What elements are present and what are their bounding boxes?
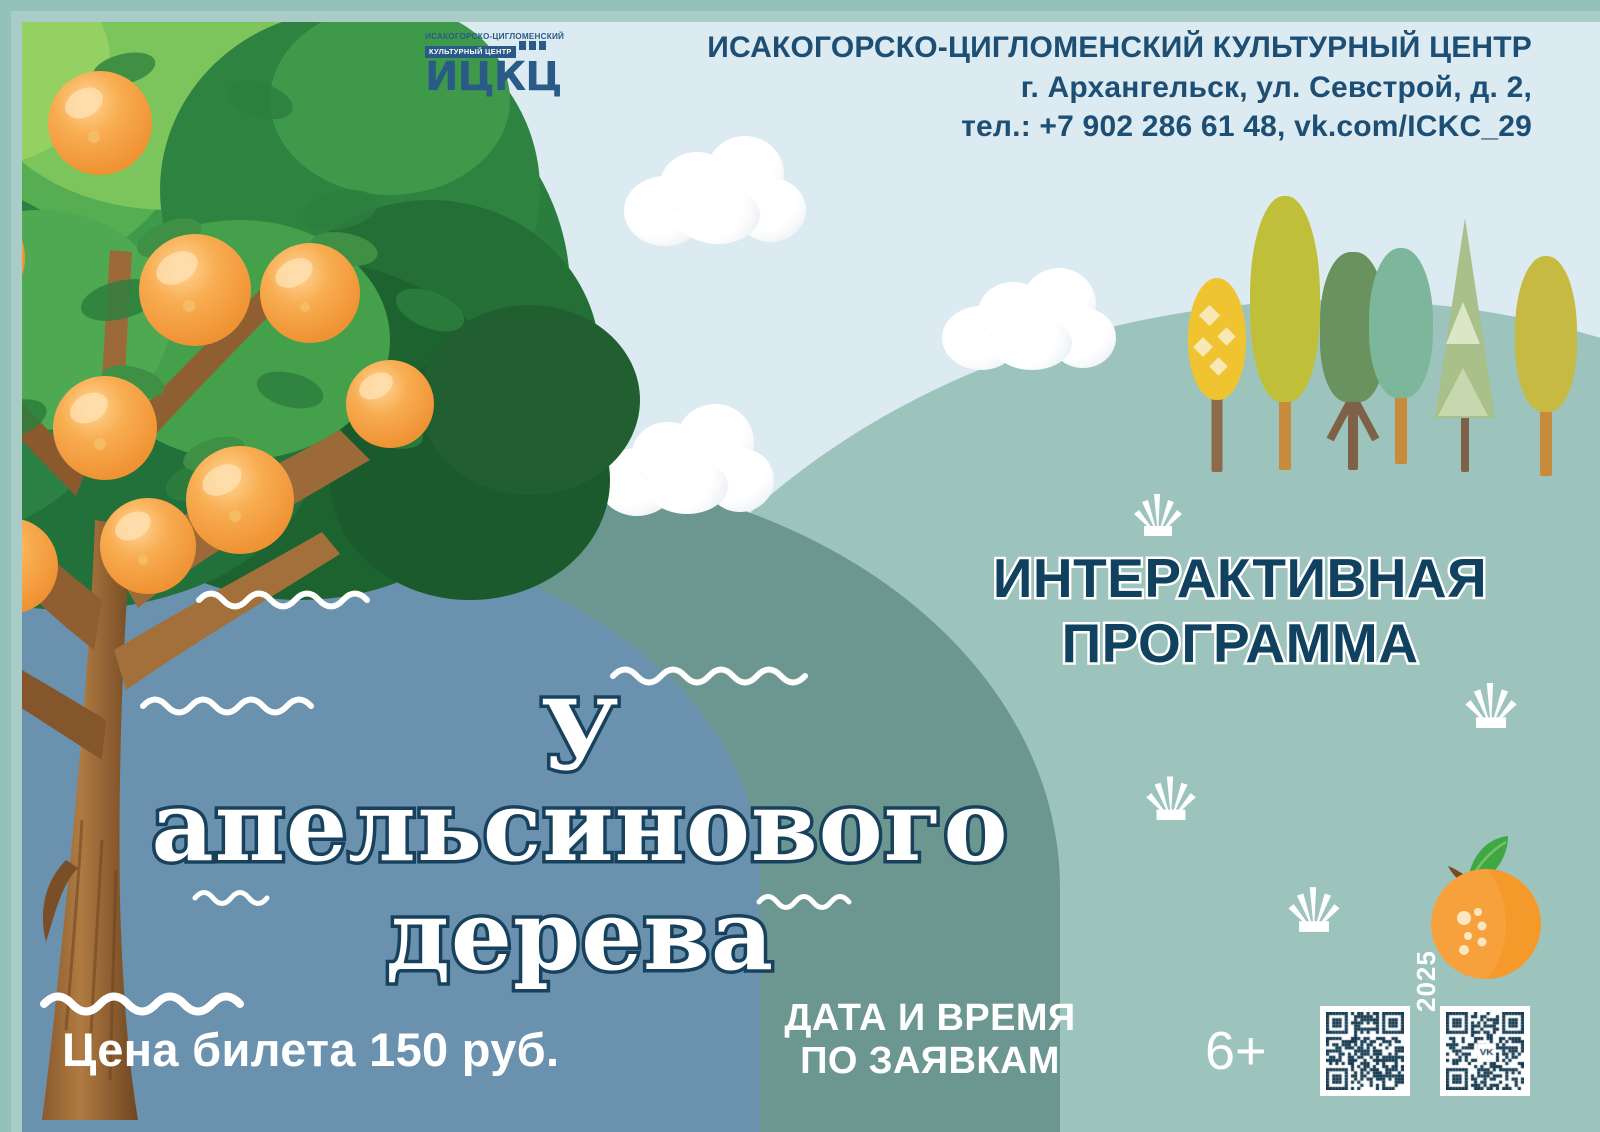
year-label: 2025: [1411, 950, 1442, 1012]
tree-icon: [1512, 256, 1580, 471]
qr-code-vk[interactable]: [1440, 1006, 1530, 1096]
frame-inner-top: [11, 11, 1600, 22]
program-line-2: ПРОГРАММА: [930, 611, 1550, 676]
wave-line-icon: [196, 584, 396, 615]
ticket-price: Цена билета 150 руб.: [62, 1022, 559, 1077]
venue-contact: тел.: +7 902 286 61 48, vk.com/ICKC_29: [707, 109, 1532, 146]
tree-icon: [1186, 278, 1248, 468]
frame-top: [0, 0, 1600, 11]
wave-line-icon: [40, 986, 280, 1021]
logo-square-icon: [539, 41, 546, 50]
logo-square-icon: [529, 41, 536, 50]
tree-icon: [1432, 218, 1498, 468]
ickc-logo: ИСАКОГОРСКО-ЦИГЛОМЕНСКИЙ КУЛЬТУРНЫЙ ЦЕНТ…: [425, 33, 565, 95]
datetime-line-1: ДАТА И ВРЕМЯ: [740, 997, 1120, 1040]
title-line-1: У апельсинового: [120, 690, 1040, 872]
program-heading: ИНТЕРАКТИВНАЯ ПРОГРАММА: [930, 546, 1550, 676]
grass-tuft-icon: [1128, 480, 1188, 541]
date-time-note: ДАТА И ВРЕМЯ ПО ЗАЯВКАМ: [740, 997, 1120, 1082]
datetime-line-2: ПО ЗАЯВКАМ: [740, 1040, 1120, 1083]
venue-info: ИСАКОГОРСКО-ЦИГЛОМЕНСКИЙ КУЛЬТУРНЫЙ ЦЕНТ…: [707, 30, 1532, 146]
grass-tuft-icon: [1458, 668, 1524, 733]
tree-icon: [1248, 196, 1322, 466]
frame-left: [0, 0, 11, 1132]
age-rating-badge: 6+: [1205, 1020, 1267, 1082]
logo-acronym: ИЦКЦ: [425, 60, 565, 94]
tree-icon: [1366, 248, 1436, 460]
wave-line-icon: [610, 660, 830, 691]
logo-square-icon: [519, 41, 526, 50]
frame-inner-left: [11, 11, 22, 1132]
grass-tuft-icon: [1140, 762, 1202, 825]
grass-tuft-icon: [1282, 872, 1346, 937]
venue-address: г. Архангельск, ул. Севстрой, д. 2,: [707, 70, 1532, 107]
page-title: У апельсинового дерева: [120, 690, 1040, 982]
logo-top-line: ИСАКОГОРСКО-ЦИГЛОМЕНСКИЙ: [425, 33, 565, 41]
title-line-2: дерева: [120, 890, 1040, 981]
cloud-icon: [940, 262, 1120, 367]
qr-code-site[interactable]: [1320, 1006, 1410, 1096]
program-line-1: ИНТЕРАКТИВНАЯ: [930, 546, 1550, 611]
venue-name: ИСАКОГОРСКО-ЦИГЛОМЕНСКИЙ КУЛЬТУРНЫЙ ЦЕНТ…: [707, 30, 1532, 67]
poster-canvas: ИСАКОГОРСКО-ЦИГЛОМЕНСКИЙ КУЛЬТУРНЫЙ ЦЕНТ…: [0, 0, 1600, 1132]
